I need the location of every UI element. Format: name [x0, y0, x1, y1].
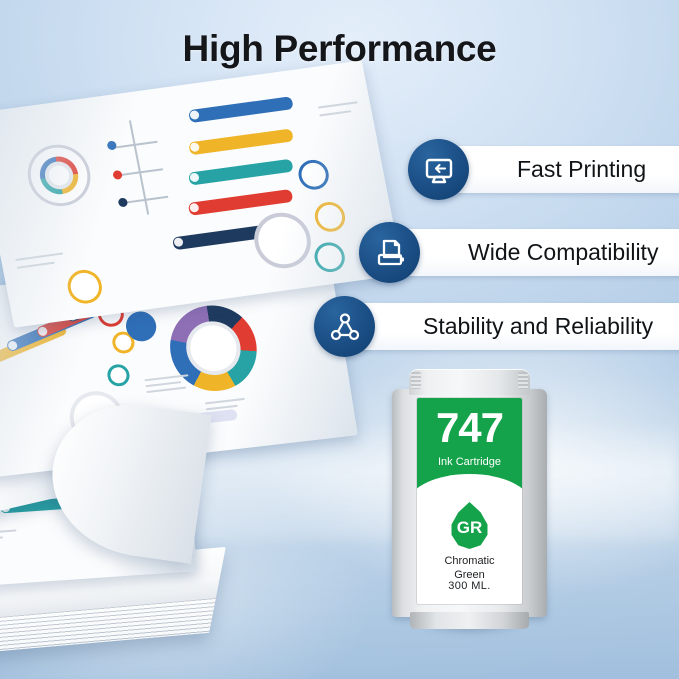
monitor-arrow-icon: [408, 139, 469, 200]
feature-row-wide-compatibility: Wide Compatibility: [386, 229, 679, 276]
network-nodes-icon: [314, 296, 375, 357]
color-code-text: GR: [450, 519, 490, 536]
cartridge-type-text: Ink Cartridge: [417, 456, 522, 468]
feature-label: Fast Printing: [517, 156, 646, 183]
cartridge-model-number: 747: [417, 407, 522, 449]
feature-label: Wide Compatibility: [468, 239, 658, 266]
color-name-line1: Chromatic: [444, 555, 494, 567]
cartridge-color-name: Chromatic Green: [417, 554, 522, 582]
feature-row-fast-printing: Fast Printing: [435, 146, 679, 193]
cartridge-label: 747 Ink Cartridge GR Chromatic Green 300…: [417, 398, 522, 604]
page-title: High Performance: [0, 28, 679, 70]
product-marketing-image: High Performance Fast Printing Wide Comp…: [0, 0, 679, 679]
cartridge-volume: 300 ML.: [417, 580, 522, 592]
ink-droplet-icon: GR: [450, 502, 490, 549]
ink-cartridge-product: 747 Ink Cartridge GR Chromatic Green 300…: [392, 369, 547, 644]
cartridge-cap: [409, 369, 530, 395]
feature-row-stability-reliability: Stability and Reliability: [341, 303, 679, 350]
printer-icon: [359, 222, 420, 283]
cartridge-foot: [410, 612, 529, 629]
feature-label: Stability and Reliability: [423, 313, 653, 340]
